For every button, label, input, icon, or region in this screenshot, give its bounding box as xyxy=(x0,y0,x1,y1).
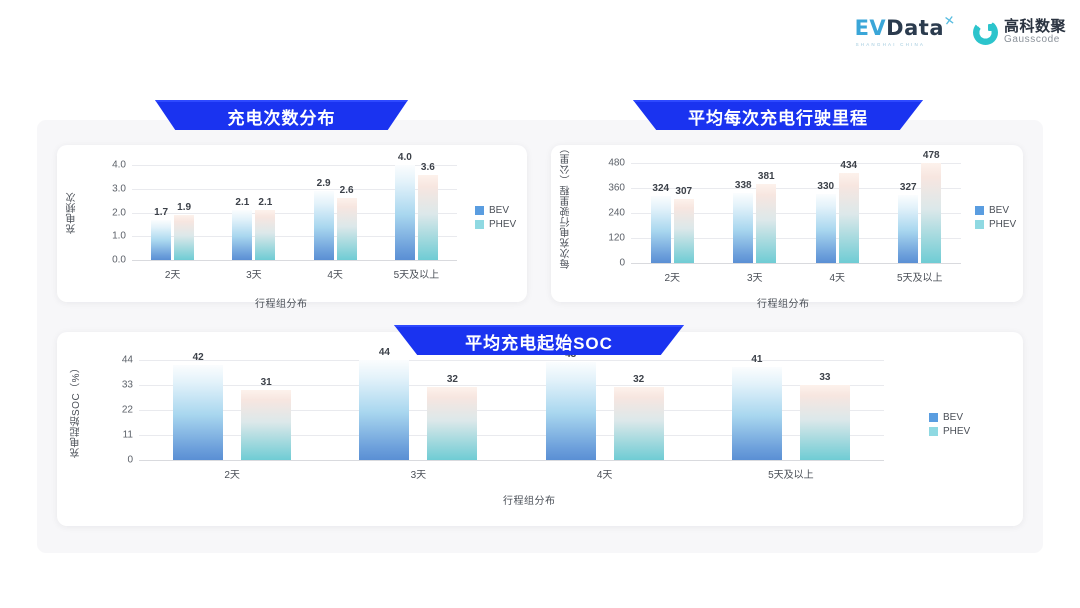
bar-phev[interactable]: 1.9 xyxy=(174,165,194,260)
evdata-data-text: Data xyxy=(886,16,944,40)
gausscode-mark-icon xyxy=(973,20,998,45)
bar-bev[interactable]: 41 xyxy=(732,360,782,460)
y-axis-tick-label: 44 xyxy=(122,355,133,366)
bar-bev[interactable]: 44 xyxy=(359,360,409,460)
bar-rect-bev[interactable] xyxy=(232,210,252,260)
chart-average-starting-soc: 充电起始SOC（%）44332211042312天44323天43324天413… xyxy=(57,332,1023,526)
bar-value-label: 44 xyxy=(379,347,390,358)
bar-value-label: 1.9 xyxy=(177,202,191,213)
y-axis-tick-label: 33 xyxy=(122,380,133,391)
y-axis-tick-label: 0 xyxy=(127,455,133,466)
bar-bev[interactable]: 2.9 xyxy=(314,165,334,260)
y-axis-tick-label: 0 xyxy=(619,258,625,269)
bar-bev[interactable]: 2.1 xyxy=(232,165,252,260)
bar-group: 2.92.64天 xyxy=(295,165,376,260)
x-axis-tick-label: 4天 xyxy=(597,466,613,481)
bar-value-label: 32 xyxy=(447,374,458,385)
x-axis-tick-label: 2天 xyxy=(664,269,680,284)
y-axis-tick-label: 4.0 xyxy=(112,160,126,171)
legend-item-bev[interactable]: BEV xyxy=(975,205,1016,216)
x-axis-line xyxy=(132,260,457,261)
bar-rect-phev[interactable] xyxy=(174,215,194,260)
bar-value-label: 33 xyxy=(819,372,830,383)
evdata-wordmark: EVData xyxy=(855,18,944,39)
bar-rect-bev[interactable] xyxy=(816,194,836,263)
bar-phev[interactable]: 434 xyxy=(839,163,859,263)
chart-average-range-per-charge: 每次充电行驶里程（公里）48036024012003243072天3383813… xyxy=(551,145,1023,302)
bar-value-label: 338 xyxy=(735,180,752,191)
bar-group: 3243072天 xyxy=(631,163,714,263)
legend-item-bev[interactable]: BEV xyxy=(475,205,516,216)
bar-value-label: 2.9 xyxy=(317,178,331,189)
bar-value-label: 2.1 xyxy=(235,197,249,208)
bar-phev[interactable]: 33 xyxy=(800,360,850,460)
bar-phev[interactable]: 31 xyxy=(241,360,291,460)
y-axis-label: 每次充电行驶里程（公里） xyxy=(561,157,573,269)
bar-rect-phev[interactable] xyxy=(756,184,776,263)
bar-group: 43324天 xyxy=(512,360,698,460)
bar-rect-phev[interactable] xyxy=(839,173,859,263)
bar-value-label: 4.0 xyxy=(398,152,412,163)
bar-value-label: 1.7 xyxy=(154,207,168,218)
chart-legend: BEVPHEV xyxy=(929,412,970,440)
bar-rect-phev[interactable] xyxy=(418,175,438,261)
gausscode-english-name: Gausscode xyxy=(1004,35,1066,46)
bar-value-label: 324 xyxy=(652,183,669,194)
plot-area: 4.03.02.01.00.01.71.92天2.12.13天2.92.64天4… xyxy=(132,165,457,260)
bar-bev[interactable]: 43 xyxy=(546,360,596,460)
y-axis-tick-label: 22 xyxy=(122,405,133,416)
x-axis-tick-label: 5天及以上 xyxy=(394,266,440,281)
evdata-ev-text: EV xyxy=(855,16,887,40)
bar-rect-phev[interactable] xyxy=(921,163,941,263)
bar-rect-bev[interactable] xyxy=(546,362,596,460)
bar-bev[interactable]: 327 xyxy=(898,163,918,263)
x-axis-line xyxy=(139,460,884,461)
evdata-x-icon: ✕ xyxy=(943,12,956,29)
bar-rect-phev[interactable] xyxy=(255,210,275,260)
gausscode-chinese-name: 高科数聚 xyxy=(1004,19,1066,35)
bar-rect-bev[interactable] xyxy=(732,367,782,460)
bar-bev[interactable]: 338 xyxy=(733,163,753,263)
legend-swatch-bev-icon xyxy=(929,413,938,422)
y-axis-tick-label: 0.0 xyxy=(112,255,126,266)
x-axis-tick-label: 4天 xyxy=(829,269,845,284)
legend-swatch-bev-icon xyxy=(475,206,484,215)
y-axis-tick-label: 120 xyxy=(608,233,625,244)
legend-item-phev[interactable]: PHEV xyxy=(475,219,516,230)
y-axis-label: 充电频次 xyxy=(67,169,79,257)
bar-rect-bev[interactable] xyxy=(733,193,753,263)
bar-group: 42312天 xyxy=(139,360,325,460)
bar-rect-bev[interactable] xyxy=(314,191,334,260)
y-axis-tick-label: 3.0 xyxy=(112,183,126,194)
evdata-sublabel: shanghai china xyxy=(856,42,926,47)
legend-item-phev[interactable]: PHEV xyxy=(929,426,970,437)
y-axis-tick-label: 360 xyxy=(608,183,625,194)
bar-rect-bev[interactable] xyxy=(151,220,171,260)
x-axis-label: 行程组分布 xyxy=(757,295,810,310)
x-axis-tick-label: 3天 xyxy=(246,266,262,281)
bar-rect-phev[interactable] xyxy=(614,387,664,460)
legend-item-phev[interactable]: PHEV xyxy=(975,219,1016,230)
bar-value-label: 330 xyxy=(817,181,834,192)
bar-value-label: 41 xyxy=(751,354,762,365)
bar-rect-phev[interactable] xyxy=(427,387,477,460)
gausscode-logo: 高科数聚 Gausscode xyxy=(973,19,1066,45)
chart-title-banner-charging-frequency: 充电次数分布 xyxy=(155,100,408,130)
bar-phev[interactable]: 3.6 xyxy=(418,165,438,260)
y-axis-label: 充电起始SOC（%） xyxy=(71,354,83,466)
x-axis-tick-label: 5天及以上 xyxy=(897,269,943,284)
chart-charging-frequency-distribution: 充电频次4.03.02.01.00.01.71.92天2.12.13天2.92.… xyxy=(57,145,527,302)
chart-card-average-range: 每次充电行驶里程（公里）48036024012003243072天3383813… xyxy=(551,145,1023,302)
legend-label-bev: BEV xyxy=(943,412,963,423)
bar-bev[interactable]: 330 xyxy=(816,163,836,263)
chart-title-banner-starting-soc: 平均充电起始SOC xyxy=(394,325,684,355)
x-axis-tick-label: 2天 xyxy=(165,266,181,281)
chart-legend: BEVPHEV xyxy=(475,205,516,233)
legend-label-bev: BEV xyxy=(989,205,1009,216)
bar-value-label: 31 xyxy=(261,377,272,388)
x-axis-label: 行程组分布 xyxy=(503,492,556,507)
bar-value-label: 2.6 xyxy=(340,185,354,196)
bar-bev[interactable]: 4.0 xyxy=(395,165,415,260)
legend-swatch-phev-icon xyxy=(929,427,938,436)
y-axis-tick-label: 11 xyxy=(123,430,133,441)
bar-value-label: 3.6 xyxy=(421,162,435,173)
bar-rect-bev[interactable] xyxy=(359,360,409,460)
bar-rect-bev[interactable] xyxy=(651,196,671,264)
bar-group: 4.03.65天及以上 xyxy=(376,165,457,260)
bar-phev[interactable]: 2.1 xyxy=(255,165,275,260)
bar-value-label: 2.1 xyxy=(258,197,272,208)
bar-phev[interactable]: 307 xyxy=(674,163,694,263)
x-axis-line xyxy=(631,263,961,264)
legend-swatch-phev-icon xyxy=(975,220,984,229)
bar-group: 3304344天 xyxy=(796,163,879,263)
x-axis-tick-label: 4天 xyxy=(327,266,343,281)
x-axis-tick-label: 2天 xyxy=(224,466,240,481)
bar-value-label: 327 xyxy=(900,182,917,193)
bar-value-label: 42 xyxy=(193,352,204,363)
bar-group: 3383813天 xyxy=(714,163,797,263)
chart-title-banner-average-range: 平均每次充电行驶里程 xyxy=(633,100,923,130)
bar-phev[interactable]: 32 xyxy=(427,360,477,460)
bar-value-label: 307 xyxy=(675,186,692,197)
bar-rect-phev[interactable] xyxy=(674,199,694,263)
chart-card-charging-frequency: 充电频次4.03.02.01.00.01.71.92天2.12.13天2.92.… xyxy=(57,145,527,302)
logo-divider xyxy=(958,19,959,45)
bar-group: 3274785天及以上 xyxy=(879,163,962,263)
bar-rect-bev[interactable] xyxy=(898,195,918,263)
legend-label-bev: BEV xyxy=(489,205,509,216)
bar-value-label: 434 xyxy=(840,160,857,171)
y-axis-tick-label: 240 xyxy=(608,208,625,219)
x-axis-tick-label: 3天 xyxy=(411,466,427,481)
legend-item-bev[interactable]: BEV xyxy=(929,412,970,423)
legend-label-phev: PHEV xyxy=(943,426,970,437)
bar-value-label: 478 xyxy=(923,150,940,161)
legend-label-phev: PHEV xyxy=(989,219,1016,230)
bar-group: 1.71.92天 xyxy=(132,165,213,260)
gausscode-text: 高科数聚 Gausscode xyxy=(1004,19,1066,45)
chart-legend: BEVPHEV xyxy=(975,205,1016,233)
x-axis-tick-label: 5天及以上 xyxy=(768,466,814,481)
bar-group: 44323天 xyxy=(325,360,511,460)
x-axis-label: 行程组分布 xyxy=(255,295,308,310)
bar-phev[interactable]: 478 xyxy=(921,163,941,263)
bar-phev[interactable]: 32 xyxy=(614,360,664,460)
bar-bev[interactable]: 42 xyxy=(173,360,223,460)
bar-group: 2.12.13天 xyxy=(213,165,294,260)
y-axis-tick-label: 480 xyxy=(608,158,625,169)
legend-label-phev: PHEV xyxy=(489,219,516,230)
bar-phev[interactable]: 2.6 xyxy=(337,165,357,260)
legend-swatch-phev-icon xyxy=(475,220,484,229)
bar-phev[interactable]: 381 xyxy=(756,163,776,263)
bar-rect-phev[interactable] xyxy=(337,198,357,260)
bar-rect-phev[interactable] xyxy=(241,390,291,460)
bar-bev[interactable]: 324 xyxy=(651,163,671,263)
legend-swatch-bev-icon xyxy=(975,206,984,215)
chart-card-starting-soc: 充电起始SOC（%）44332211042312天44323天43324天413… xyxy=(57,332,1023,526)
evdata-logo: EVData ✕ shanghai china xyxy=(855,18,944,47)
plot-area: 48036024012003243072天3383813天3304344天327… xyxy=(631,163,961,263)
bar-rect-bev[interactable] xyxy=(173,365,223,460)
y-axis-tick-label: 2.0 xyxy=(112,207,126,218)
y-axis-tick-label: 1.0 xyxy=(112,231,126,242)
brand-logo-bar: EVData ✕ shanghai china 高科数聚 Gausscode xyxy=(855,12,1066,52)
bar-rect-phev[interactable] xyxy=(800,385,850,460)
bar-rect-bev[interactable] xyxy=(395,165,415,260)
x-axis-tick-label: 3天 xyxy=(747,269,763,284)
plot-area: 44332211042312天44323天43324天41335天及以上 xyxy=(139,360,884,460)
bar-value-label: 381 xyxy=(758,171,775,182)
bar-value-label: 32 xyxy=(633,374,644,385)
bar-group: 41335天及以上 xyxy=(698,360,884,460)
bar-bev[interactable]: 1.7 xyxy=(151,165,171,260)
